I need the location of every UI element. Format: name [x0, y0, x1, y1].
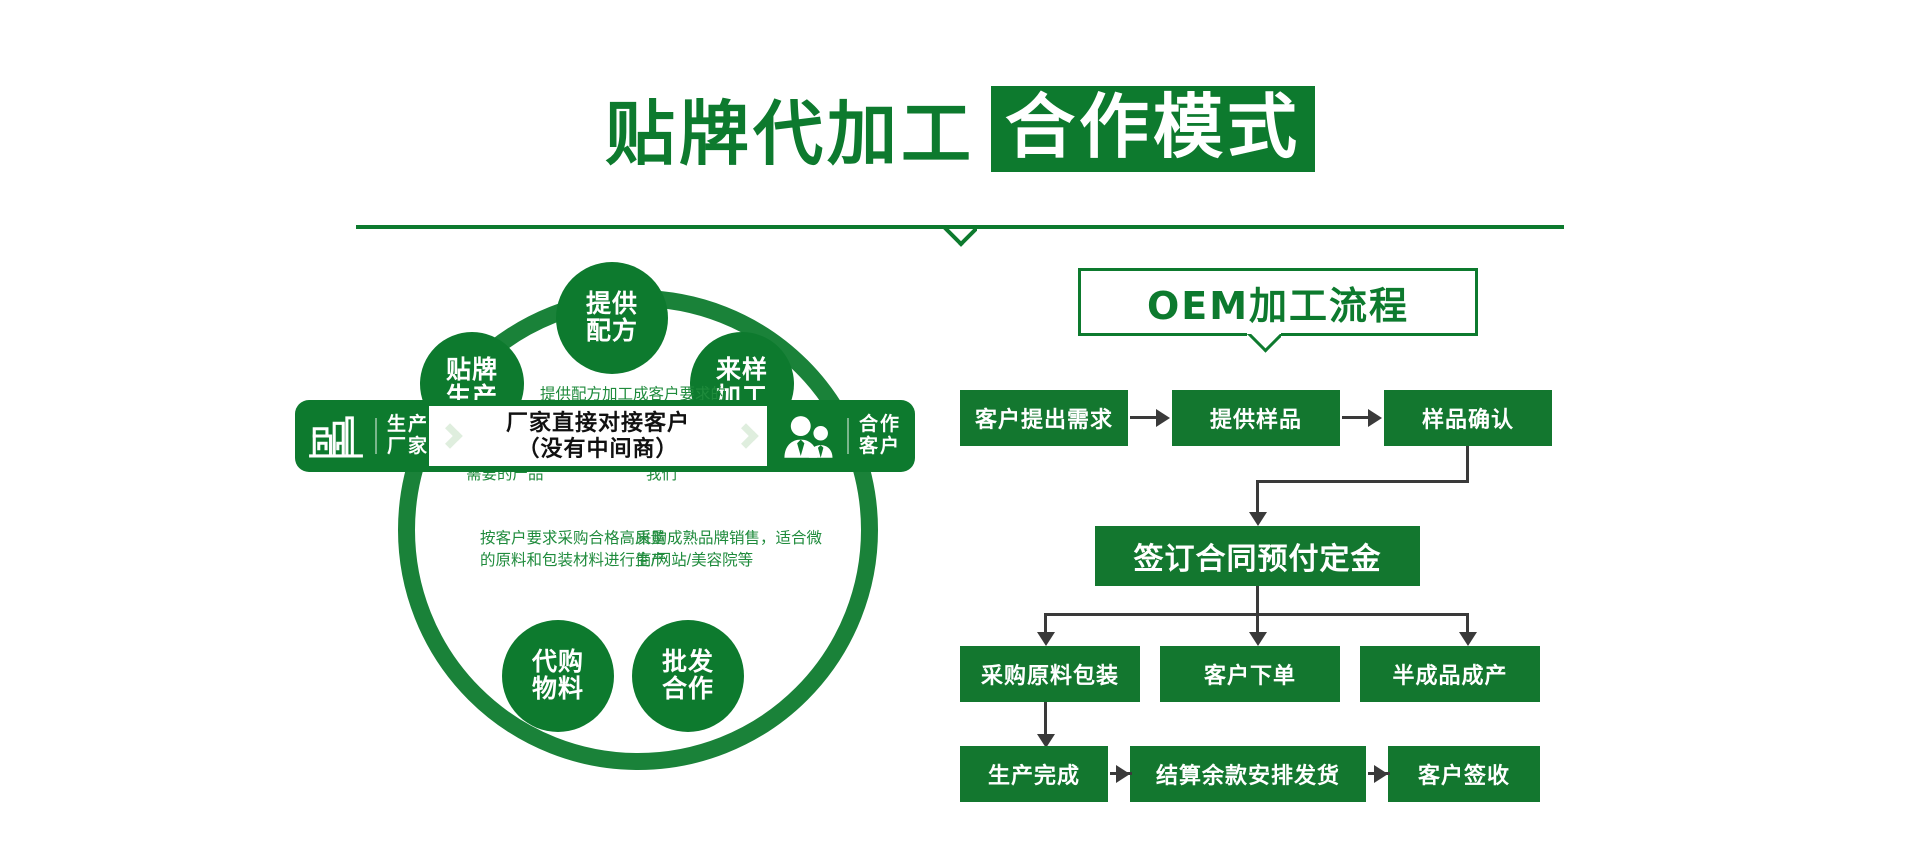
flow-box-customer-order[interactable]: 客户下单	[1160, 646, 1340, 702]
connector-line	[1342, 416, 1370, 419]
circle-node-line1: 批发	[662, 649, 714, 677]
arrow-down-icon	[1037, 632, 1055, 646]
title-divider	[356, 225, 1564, 229]
center-bar-right-label: 合作 客户	[859, 414, 901, 458]
flow-box-label: 签订合同预付定金	[1134, 534, 1382, 578]
circle-node-line2: 物料	[532, 676, 584, 704]
oem-flowchart: OEM加工流程 客户提出需求 提供样品 样品确认 签订合同预付定金	[960, 250, 1640, 810]
flow-box-sample-confirm[interactable]: 样品确认	[1384, 390, 1552, 446]
center-bar-right-divider	[847, 418, 849, 454]
flow-box-label: 样品确认	[1422, 402, 1514, 434]
center-bar: 生产 厂家 厂家直接对接客户 （没有中间商）	[295, 400, 915, 472]
center-bar-left-divider	[375, 418, 377, 454]
arrow-down-icon	[1249, 512, 1267, 526]
flow-box-customer-receive[interactable]: 客户签收	[1388, 746, 1540, 802]
page-title-part2: 合作模式	[991, 86, 1315, 172]
circle-node-line1: 来样	[716, 357, 768, 385]
flow-box-label: 提供样品	[1210, 402, 1302, 434]
flow-box-provide-sample[interactable]: 提供样品	[1172, 390, 1340, 446]
flow-box-label: 生产完成	[988, 758, 1080, 790]
center-bar-middle-line1: 厂家直接对接客户	[506, 410, 690, 435]
flow-box-production-done[interactable]: 生产完成	[960, 746, 1108, 802]
center-bar-middle-line2: （没有中间商）	[517, 436, 678, 461]
circle-diagram: 提供 配方 贴牌 生产 来样 加工 代购 物料 批发 合	[340, 250, 900, 810]
flow-box-label: 结算余款安排发货	[1156, 758, 1340, 790]
circle-node-provide-formula[interactable]: 提供 配方	[556, 262, 668, 374]
circle-node-line1: 贴牌	[446, 357, 498, 385]
center-bar-left-label-line1: 生产	[387, 414, 429, 435]
center-bar-left: 生产 厂家	[295, 400, 429, 472]
chevron-down-icon	[943, 227, 977, 247]
arrow-right-icon	[1368, 409, 1382, 427]
arrow-down-icon	[1249, 632, 1267, 646]
connector-line	[1256, 586, 1259, 616]
flow-box-label: 客户下单	[1204, 658, 1296, 690]
flow-box-label: 采购原料包装	[981, 658, 1119, 690]
flowchart-header-text: OEM加工流程	[1147, 275, 1409, 330]
flow-box-label: 半成品成产	[1392, 658, 1507, 690]
circle-caption-wholesale-coop: 采购成熟品牌销售，适合微商/网站/美容院等	[636, 528, 826, 572]
flow-box-purchase-materials[interactable]: 采购原料包装	[960, 646, 1140, 702]
flow-box-settle-balance-ship[interactable]: 结算余款安排发货	[1130, 746, 1366, 802]
flow-box-sign-contract-deposit[interactable]: 签订合同预付定金	[1095, 526, 1420, 586]
circle-node-wholesale-coop[interactable]: 批发 合作	[632, 620, 744, 732]
chevron-right-icon	[733, 423, 758, 448]
flow-box-label: 客户提出需求	[975, 402, 1113, 434]
circle-node-line1: 代购	[532, 649, 584, 677]
center-bar-middle-text: 厂家直接对接客户 （没有中间商）	[506, 410, 690, 463]
connector-line	[1466, 446, 1469, 483]
arrow-right-icon	[1116, 765, 1130, 783]
chevron-right-icon	[437, 423, 462, 448]
arrow-down-icon	[1459, 632, 1477, 646]
circle-node-line2: 合作	[662, 676, 714, 704]
page-title-part1: 贴牌代加工	[605, 93, 975, 175]
poster-root: 贴牌代加工合作模式 提供 配方 贴牌 生产 来样 加工	[0, 0, 1920, 857]
center-bar-middle: 厂家直接对接客户 （没有中间商）	[429, 406, 767, 466]
connector-line	[1130, 416, 1158, 419]
circle-node-material-purchase[interactable]: 代购 物料	[502, 620, 614, 732]
page-title: 贴牌代加工合作模式	[0, 78, 1920, 179]
circle-node-line1: 提供	[586, 291, 638, 319]
center-bar-right: 合作 客户	[767, 400, 915, 472]
flowchart-header: OEM加工流程	[1078, 268, 1478, 336]
center-bar-left-label: 生产 厂家	[387, 414, 429, 458]
factory-icon	[307, 412, 365, 460]
two-people-icon	[779, 412, 837, 460]
flow-box-customer-requirement[interactable]: 客户提出需求	[960, 390, 1128, 446]
flow-box-label: 客户签收	[1418, 758, 1510, 790]
circle-node-line2: 配方	[586, 318, 638, 346]
center-bar-right-label-line2: 客户	[859, 436, 901, 457]
connector-line	[1256, 480, 1469, 483]
arrow-right-icon	[1156, 409, 1170, 427]
arrow-right-icon	[1374, 765, 1388, 783]
flow-box-semi-finished[interactable]: 半成品成产	[1360, 646, 1540, 702]
center-bar-left-label-line2: 厂家	[387, 436, 429, 457]
flowchart-header-tail	[1247, 334, 1281, 354]
center-bar-right-label-line1: 合作	[859, 414, 901, 435]
